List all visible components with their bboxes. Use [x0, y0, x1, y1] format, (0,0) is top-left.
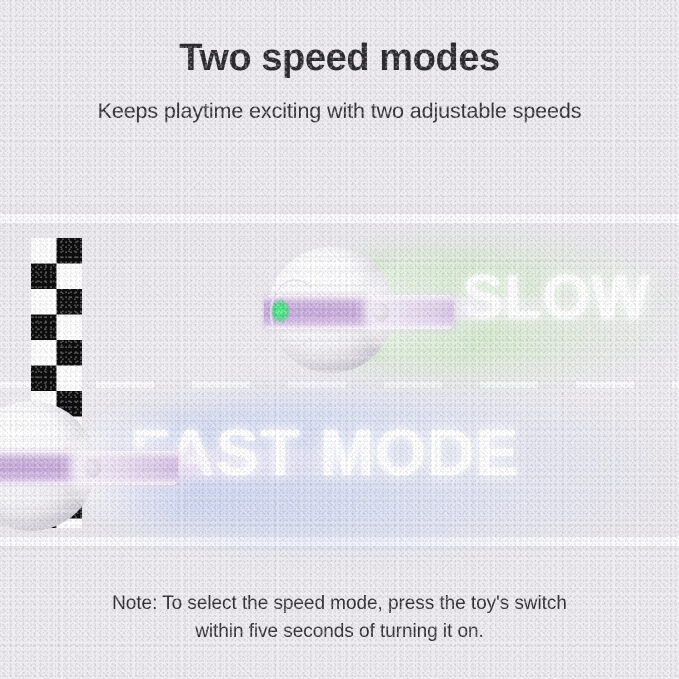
footer-note-line-2: within five seconds of turning it on. — [0, 618, 679, 646]
road-line-bottom — [0, 537, 679, 546]
toy-ball-fast-mode — [0, 401, 188, 531]
footer-note-line-1: Note: To select the speed mode, press th… — [0, 590, 679, 618]
toy-ball-slow-mode — [268, 247, 480, 373]
footer-note: Note: To select the speed mode, press th… — [0, 590, 679, 645]
road-line-top — [0, 214, 679, 223]
road-lane-divider-dashed — [0, 381, 679, 388]
page-title: Two speed modes — [0, 38, 679, 80]
slow-mode-label: SLOW — [462, 267, 650, 329]
page-subtitle: Keeps playtime exciting with two adjusta… — [0, 99, 679, 125]
infographic-canvas: Two speed modes Keeps playtime exciting … — [0, 0, 679, 679]
header-block: Two speed modes Keeps playtime exciting … — [0, 38, 679, 125]
green-led-indicator-icon — [272, 299, 289, 323]
motion-blur-smear — [364, 251, 480, 369]
motion-blur-smear — [70, 407, 194, 527]
